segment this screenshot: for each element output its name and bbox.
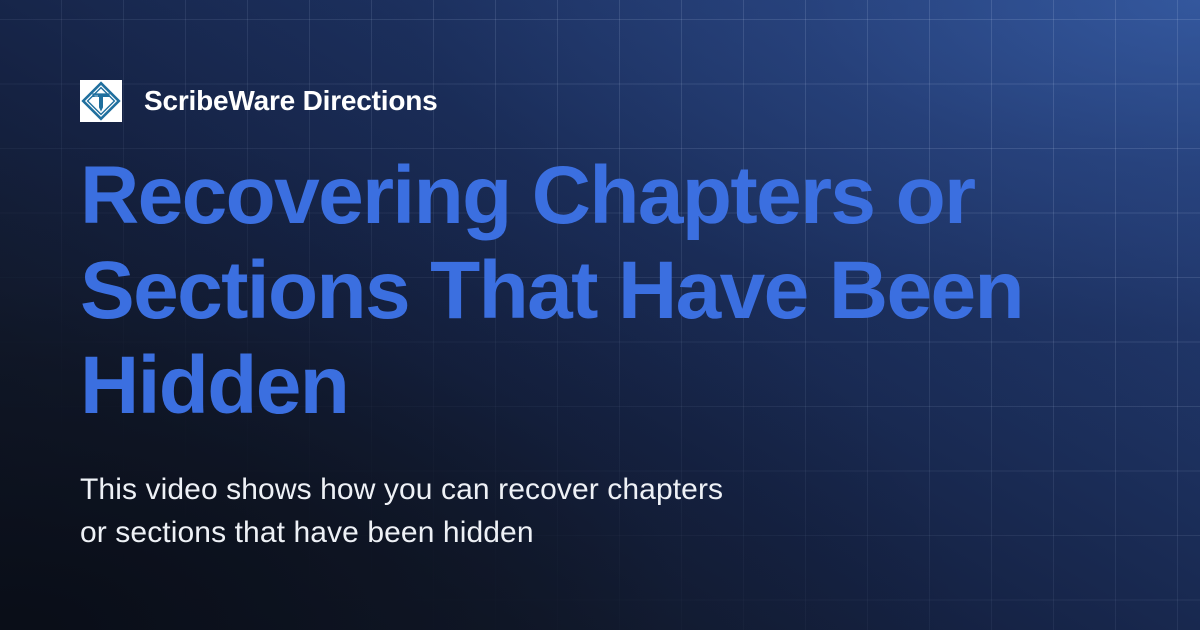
brand-row: ScribeWare Directions	[80, 80, 1120, 122]
page-subtitle: This video shows how you can recover cha…	[80, 468, 920, 554]
subtitle-line-1: This video shows how you can recover cha…	[80, 468, 920, 511]
page-title: Recovering Chapters or Sections That Hav…	[80, 148, 1140, 433]
brand-name-label: ScribeWare Directions	[144, 87, 438, 115]
card-content: ScribeWare Directions Recovering Chapter…	[0, 0, 1200, 630]
scribeware-diamond-monogram-icon	[80, 80, 122, 122]
subtitle-line-2: or sections that have been hidden	[80, 511, 920, 554]
video-thumbnail-card: ScribeWare Directions Recovering Chapter…	[0, 0, 1200, 630]
